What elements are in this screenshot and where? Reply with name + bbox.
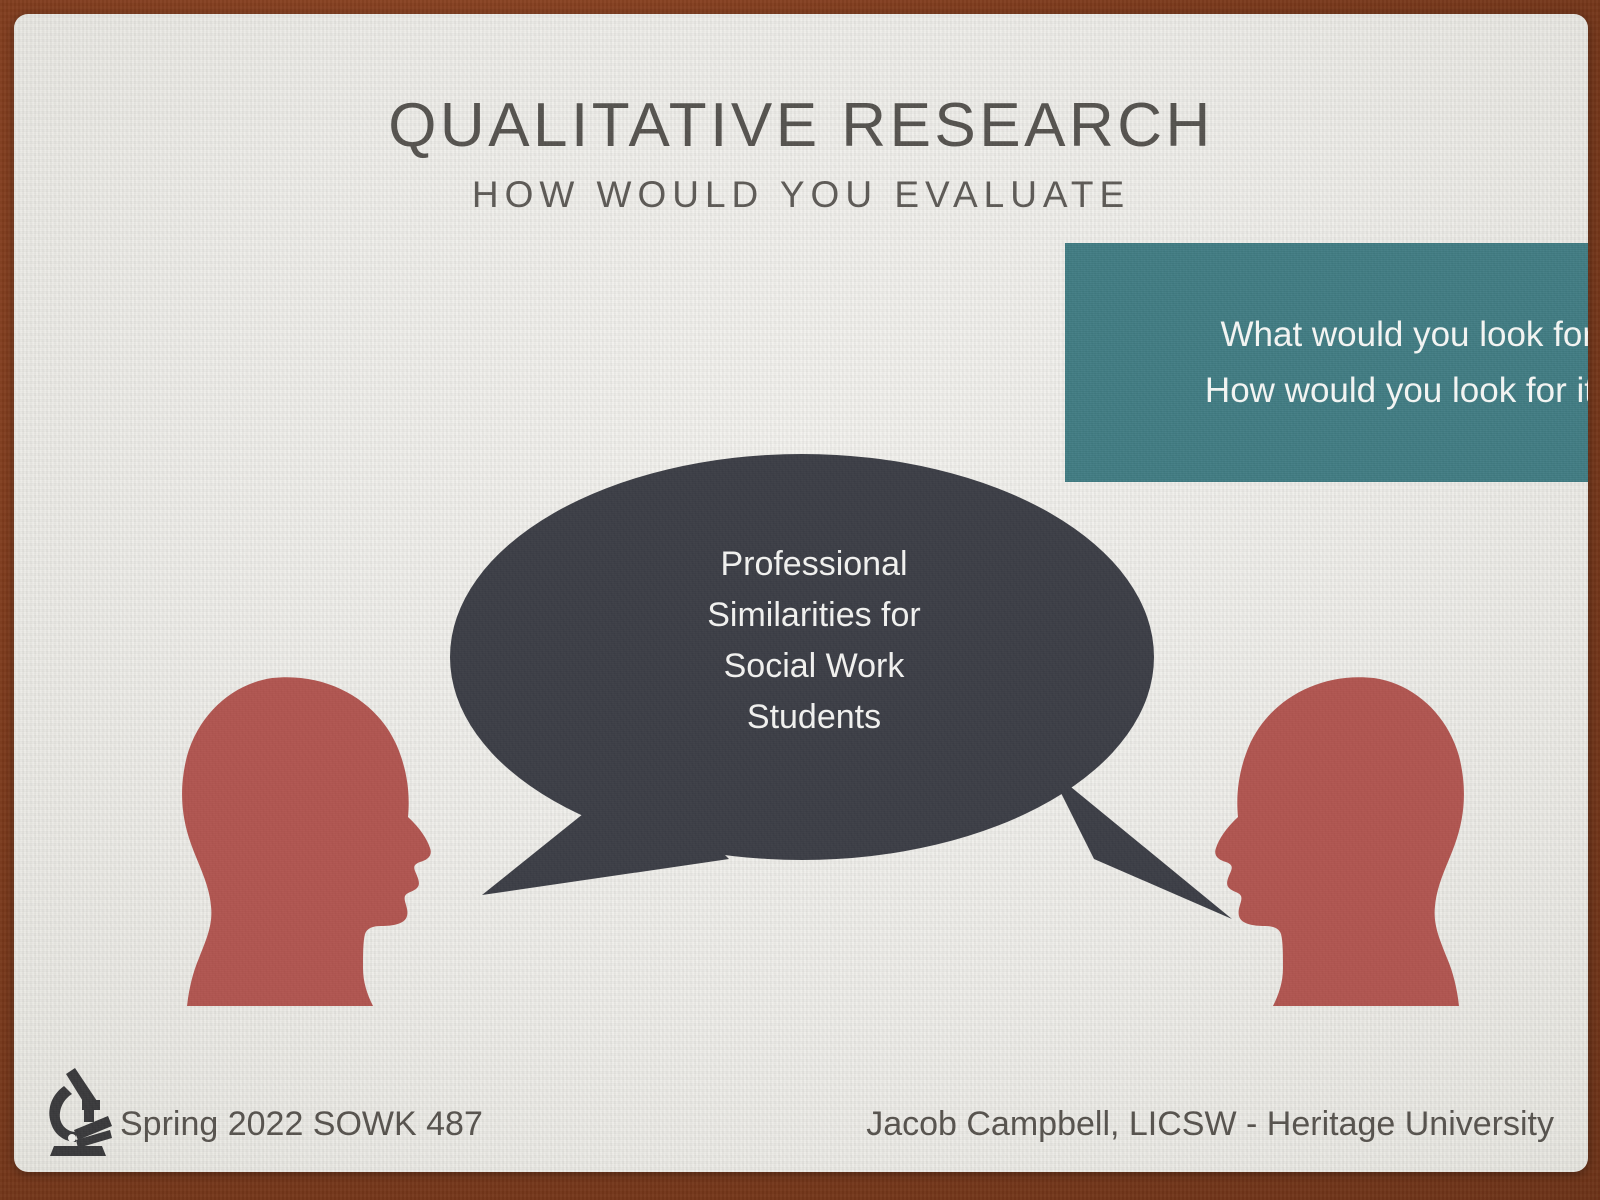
head-silhouette-left-icon [177, 676, 447, 1006]
footer-course-label: Spring 2022 SOWK 487 [120, 1105, 483, 1144]
speech-bubble [434, 439, 1244, 934]
footer-author-label: Jacob Campbell, LICSW - Heritage Univers… [866, 1105, 1554, 1144]
callout-box: What would you look for How would you lo… [1065, 243, 1588, 482]
speech-bubble-shape [434, 439, 1244, 929]
slide-outer-frame: QUALITATIVE RESEARCH HOW WOULD YOU EVALU… [0, 0, 1600, 1200]
page-title: QUALITATIVE RESEARCH [14, 90, 1588, 161]
page-subtitle: HOW WOULD YOU EVALUATE [14, 174, 1588, 216]
microscope-icon [42, 1064, 114, 1156]
head-silhouette-left [177, 676, 447, 1011]
callout-line-1: What would you look for [1220, 307, 1588, 363]
presentation-slide: QUALITATIVE RESEARCH HOW WOULD YOU EVALU… [14, 14, 1588, 1172]
callout-line-2: How would you look for it [1205, 363, 1588, 419]
